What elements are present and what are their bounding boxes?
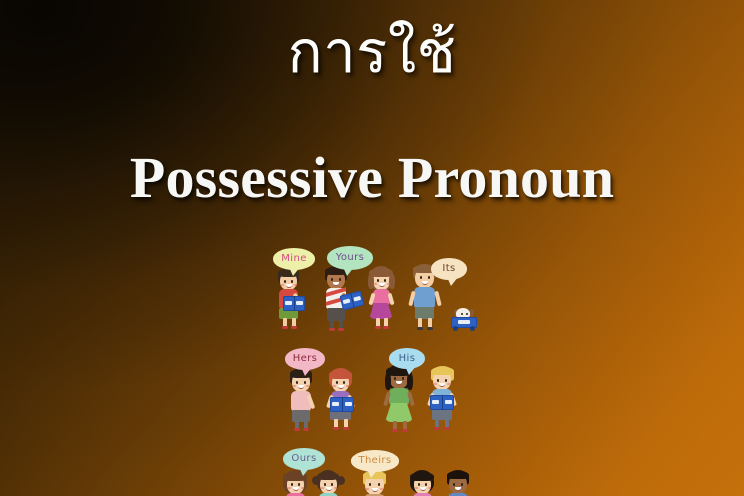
bubble-label-yours: Yours xyxy=(336,252,365,263)
bubble-label-its: Its xyxy=(442,263,455,274)
book-icon xyxy=(330,397,354,412)
speech-bubble-ours: Ours xyxy=(283,448,325,470)
bubble-label-his: His xyxy=(399,353,416,364)
bubble-label-hers: Hers xyxy=(293,353,318,364)
character-row-1: Mine Yours Its xyxy=(255,248,500,336)
book-icon xyxy=(430,395,454,410)
character-boy-blonde-reading xyxy=(423,366,465,432)
dog-with-book-cart xyxy=(451,308,477,328)
bubble-label-ours: Ours xyxy=(291,453,316,464)
speech-bubble-theirs: Theirs xyxy=(351,450,399,472)
character-boy-red-shirt xyxy=(271,268,309,330)
character-girl-black-hair-reading xyxy=(403,470,443,496)
speech-bubble-mine: Mine xyxy=(273,248,315,270)
page-title-english: Possessive Pronoun xyxy=(0,148,744,209)
character-row-2: Hers His xyxy=(255,348,500,436)
character-girl-pink-dress xyxy=(363,266,401,332)
speech-bubble-its: Its xyxy=(431,258,467,280)
character-boy-dark-skin-reading xyxy=(439,470,479,496)
speech-bubble-his: His xyxy=(389,348,425,369)
speech-bubble-hers: Hers xyxy=(285,348,325,370)
illustration-group: Mine Yours Its xyxy=(255,222,500,496)
character-row-3: Ours Theirs xyxy=(255,448,500,496)
character-girl-purple-top-reading xyxy=(321,368,363,432)
book-icon xyxy=(283,296,305,311)
bubble-label-theirs: Theirs xyxy=(358,455,391,466)
character-boy-pink-shirt xyxy=(283,368,321,432)
character-girl-pigtails-reading xyxy=(309,470,349,496)
slide-canvas: การใช้ Possessive Pronoun Mine Yours Its xyxy=(0,0,744,496)
speech-bubble-yours: Yours xyxy=(327,246,373,270)
bubble-label-mine: Mine xyxy=(281,253,307,264)
page-title-thai: การใช้ xyxy=(0,22,744,83)
